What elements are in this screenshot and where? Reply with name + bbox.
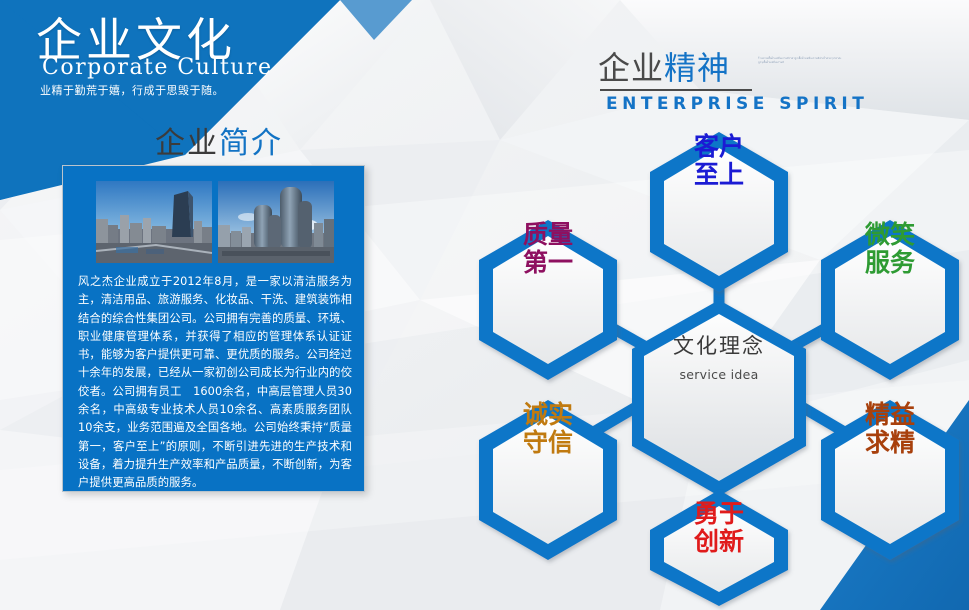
photo-city-aerial bbox=[96, 181, 212, 263]
spirit-heading-rule bbox=[600, 89, 752, 91]
hex-label-bottom-line1: 勇于 bbox=[664, 500, 774, 528]
hex-label-top-line2: 至上 bbox=[664, 161, 774, 189]
hex-label-upper-left-line1: 质量 bbox=[493, 221, 603, 249]
hex-label-lower-right-line1: 精益 bbox=[835, 401, 945, 429]
hex-center-label[interactable]: 文化理念 service idea bbox=[644, 330, 794, 382]
hex-label-lower-right[interactable]: 精益 求精 bbox=[835, 401, 945, 457]
company-intro-card: 风之杰企业成立于2012年8月，是一家以清洁服务为主，清洁用品、旅游服务、化妆品… bbox=[62, 165, 365, 492]
hex-label-upper-right-line1: 微笑 bbox=[835, 221, 945, 249]
intro-heading: 企业简介 bbox=[155, 118, 283, 162]
hex-label-lower-left[interactable]: 诚实 守信 bbox=[493, 401, 603, 457]
banner-subtitle: Corporate Culture bbox=[42, 55, 273, 80]
intro-heading-blue: 简介 bbox=[219, 126, 283, 161]
photo-strip bbox=[96, 181, 334, 263]
hex-label-upper-right-line2: 服务 bbox=[835, 249, 945, 277]
intro-heading-dark: 企业 bbox=[155, 126, 219, 161]
hex-label-bottom[interactable]: 勇于 创新 bbox=[664, 500, 774, 556]
photo-twin-towers bbox=[218, 181, 334, 263]
hex-label-lower-left-line2: 守信 bbox=[493, 429, 603, 457]
hex-label-top[interactable]: 客户 至上 bbox=[664, 133, 774, 189]
hex-label-lower-right-line2: 求精 bbox=[835, 429, 945, 457]
hex-label-top-line1: 客户 bbox=[664, 133, 774, 161]
poster-canvas: 企业文化 Corporate Culture 业精于勤荒于嬉，行成于思毁于随。 … bbox=[0, 0, 969, 610]
hex-label-bottom-line2: 创新 bbox=[664, 528, 774, 556]
hex-label-upper-right[interactable]: 微笑 服务 bbox=[835, 221, 945, 277]
banner-motto: 业精于勤荒于嬉，行成于思毁于随。 bbox=[40, 82, 224, 98]
spirit-heading-dark: 企业 bbox=[598, 49, 664, 87]
spirit-heading-blue: 精神 bbox=[664, 49, 730, 87]
hex-label-lower-left-line1: 诚实 bbox=[493, 401, 603, 429]
decorative-microtext: ร้านขายเสื้อผ้าแฟชั่นเกาหลีราคาถูกเสื้อผ… bbox=[758, 57, 842, 65]
hex-label-upper-left[interactable]: 质量 第一 bbox=[493, 221, 603, 277]
hex-center-label-cn: 文化理念 bbox=[644, 330, 794, 360]
company-intro-text: 风之杰企业成立于2012年8月，是一家以清洁服务为主，清洁用品、旅游服务、化妆品… bbox=[78, 273, 352, 493]
hex-label-upper-left-line2: 第一 bbox=[493, 249, 603, 277]
hex-center-label-en: service idea bbox=[644, 367, 794, 382]
